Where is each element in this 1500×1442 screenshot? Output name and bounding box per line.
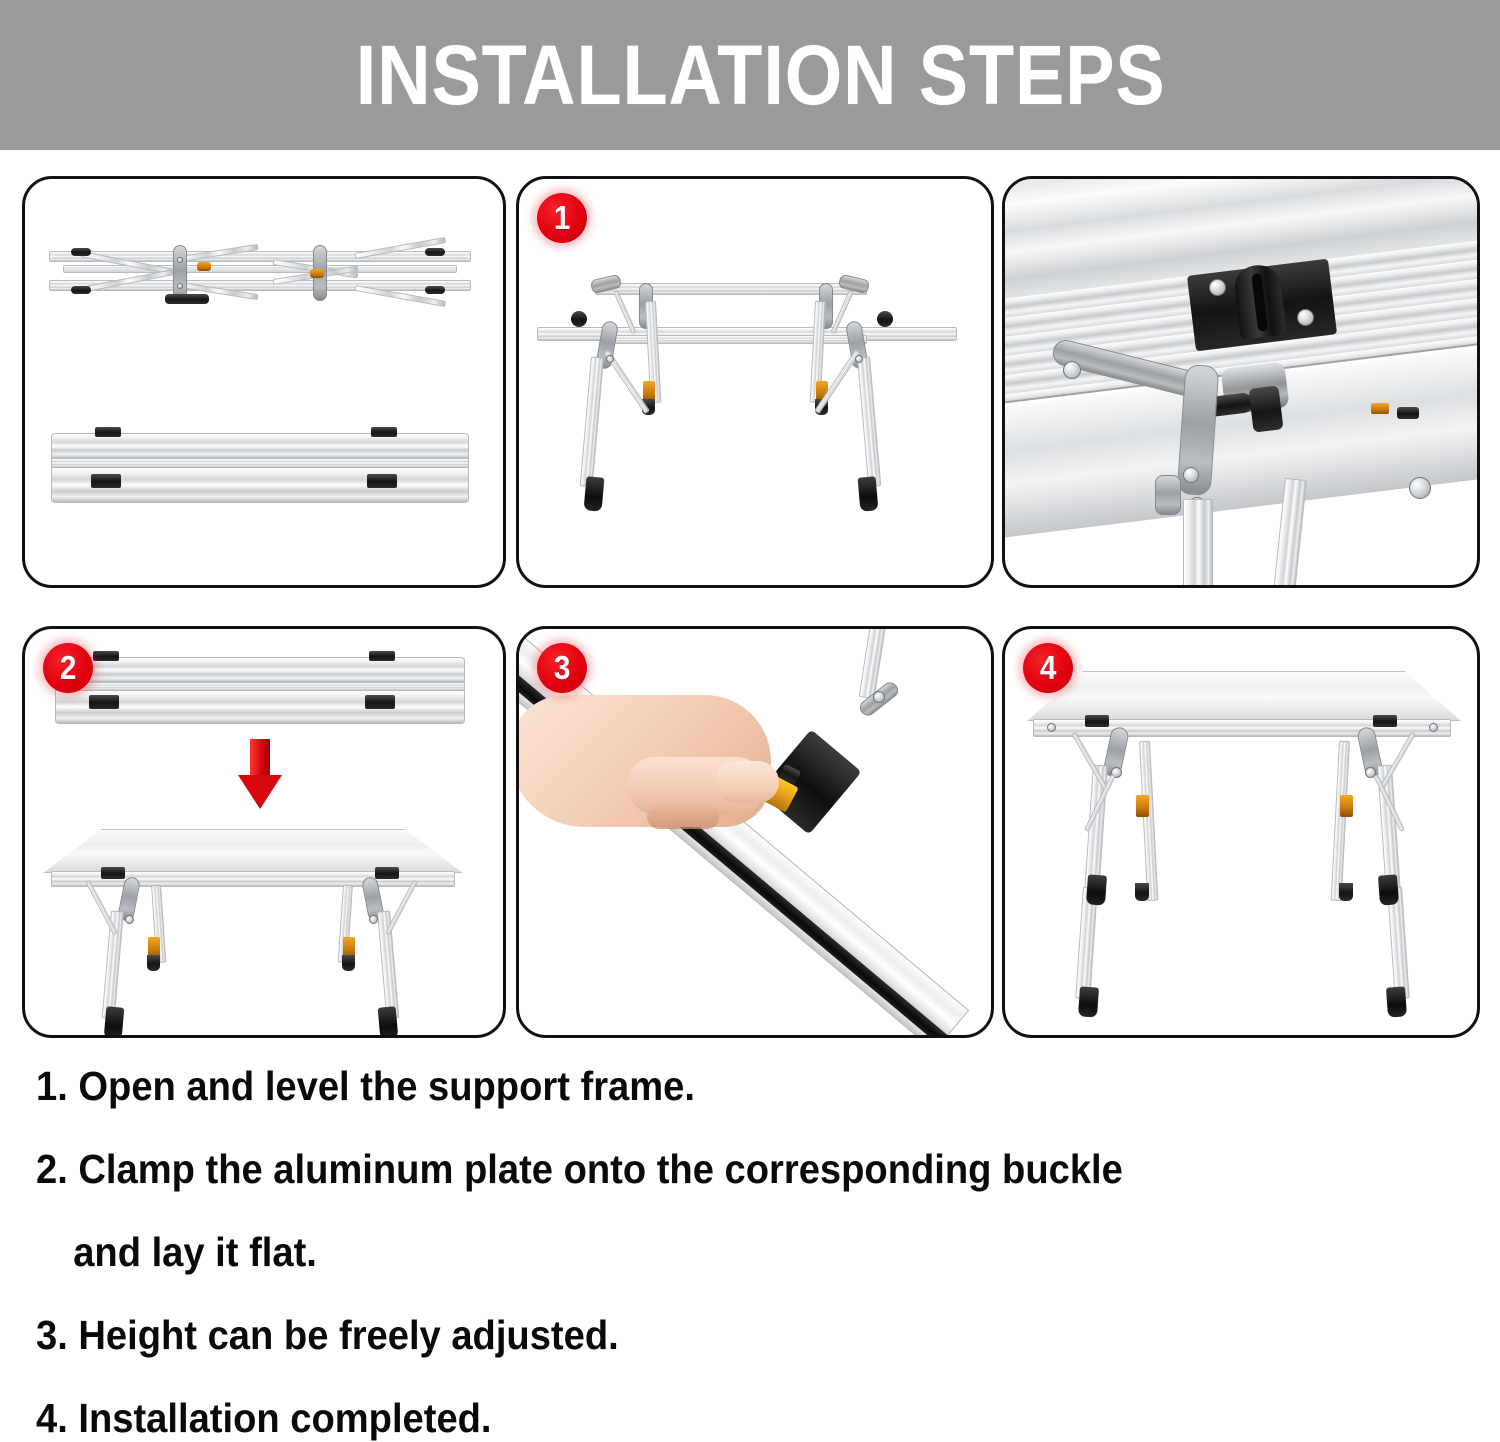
down-arrow-icon xyxy=(238,739,282,811)
step-line-3: 3. Height can be freely adjusted. xyxy=(36,1315,1245,1356)
step-badge-3: 3 xyxy=(537,643,587,693)
header-band: INSTALLATION STEPS xyxy=(0,0,1500,150)
step-badge-1: 1 xyxy=(537,193,587,243)
diagonal-rail xyxy=(516,626,969,1038)
step-line-1: 1. Open and level the support frame. xyxy=(36,1066,1245,1107)
completed-table-art xyxy=(1005,629,1477,1035)
panel-buckle-closeup xyxy=(1002,176,1480,588)
height-adjust-art xyxy=(519,629,991,1035)
packed-parts-art xyxy=(25,179,503,585)
panel-grid: 1 xyxy=(22,176,1480,1038)
mount-tabletop-art xyxy=(25,629,503,1035)
step-line-2b: and lay it flat. xyxy=(36,1232,1245,1273)
panel-packed-parts xyxy=(22,176,506,588)
step-badge-2: 2 xyxy=(43,643,93,693)
panel-mount-tabletop: 2 xyxy=(22,626,506,1038)
installation-steps-infographic: INSTALLATION STEPS xyxy=(0,0,1500,1442)
panel-height-adjust: 3 xyxy=(516,626,994,1038)
page-title: INSTALLATION STEPS xyxy=(356,33,1166,117)
bracket-screw-right xyxy=(1297,309,1314,326)
step-line-4: 4. Installation completed. xyxy=(36,1398,1245,1439)
panel-completed-table: 4 xyxy=(1002,626,1480,1038)
steps-text-block: 1. Open and level the support frame. 2. … xyxy=(36,1066,1336,1439)
bracket-screw-left xyxy=(1209,279,1226,296)
panel-open-frame: 1 xyxy=(516,176,994,588)
open-frame-art xyxy=(519,179,991,585)
buckle-closeup-art xyxy=(1005,179,1477,585)
step-line-2: 2. Clamp the aluminum plate onto the cor… xyxy=(36,1149,1245,1190)
step-badge-4: 4 xyxy=(1023,643,1073,693)
